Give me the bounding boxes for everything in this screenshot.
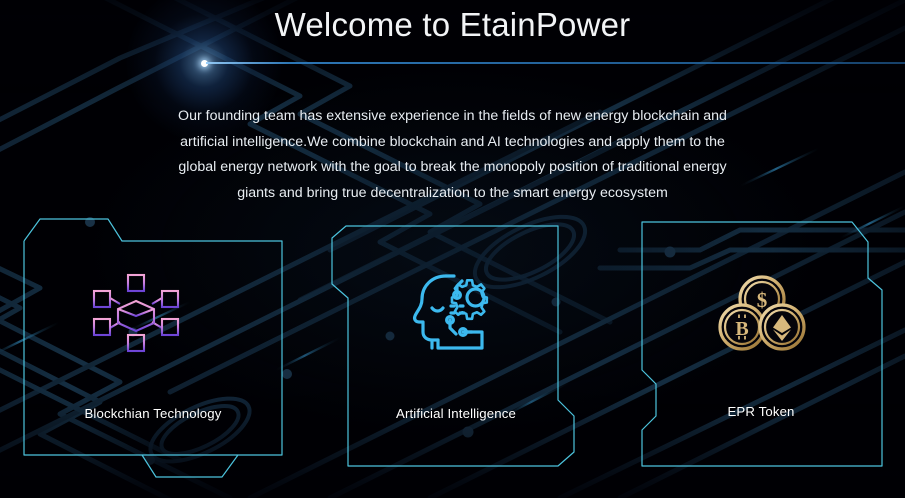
coin-symbol-bitcoin: B [735,315,748,341]
ai-head-gear-icon [410,270,502,356]
page-title: Welcome to EtainPower [0,6,905,44]
crypto-coins-icon: $ B [716,270,808,356]
glow-dot [201,60,208,67]
svg-text:B: B [735,318,748,340]
card-blockchain-label: Blockchian Technology [22,406,284,421]
welcome-page: Welcome to EtainPower Our founding team … [0,0,905,498]
intro-paragraph: Our founding team has extensive experien… [160,104,745,206]
svg-text:$: $ [757,288,768,312]
blockchain-network-icon [88,271,184,355]
card-artificial-intelligence[interactable]: Artificial Intelligence [330,224,582,482]
card-ai-label: Artificial Intelligence [330,406,582,421]
card-epr-token[interactable]: $ B EPR Token [638,216,884,474]
coin-symbol-dollar: $ [757,288,768,312]
card-blockchain-technology[interactable]: Blockchian Technology [22,205,284,493]
card-token-label: EPR Token [638,404,884,419]
glow-beam-line [206,62,905,64]
